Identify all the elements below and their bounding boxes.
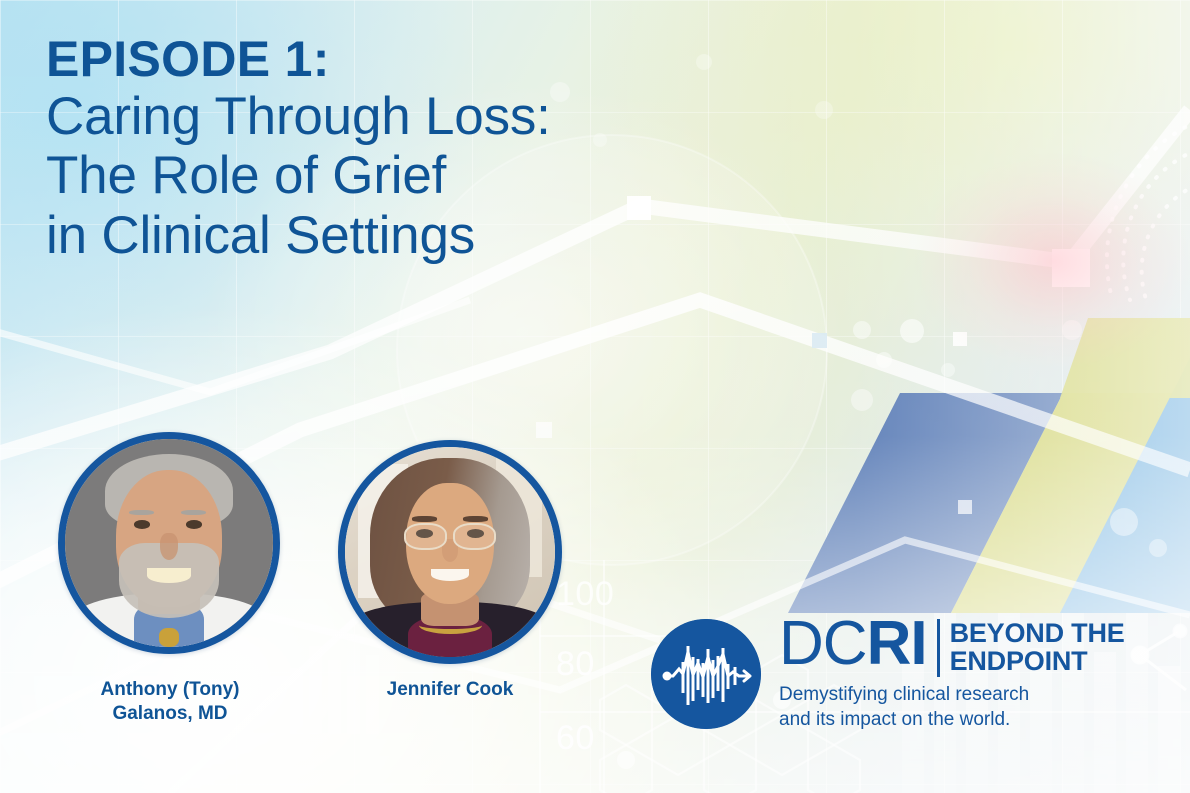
axis-tick-60: 60 <box>556 719 595 758</box>
dcri-logo-text: DCRI BEYOND THE ENDPOINT Demystifying cl… <box>779 615 1125 732</box>
episode-poster: EPISODE 1: Caring Through Loss: The Role… <box>0 0 1190 793</box>
speaker-name-galanos: Anthony (Tony) Galanos, MD <box>30 678 310 727</box>
speaker-name-line-1: Anthony (Tony) <box>30 678 310 702</box>
dcri-logo: DCRI BEYOND THE ENDPOINT Demystifying cl… <box>651 615 1125 732</box>
logo-subtitle-line-1: Demystifying clinical research <box>779 683 1125 708</box>
episode-label: EPISODE 1: <box>46 34 766 85</box>
speaker-name-cook: Jennifer Cook <box>330 678 570 702</box>
page-title-line-2: The Role of Grief <box>46 146 766 205</box>
logo-tagline-line-2: ENDPOINT <box>950 647 1125 675</box>
logo-subtitle: Demystifying clinical research and its i… <box>779 683 1125 732</box>
logo-subtitle-line-2: and its impact on the world. <box>779 708 1125 733</box>
waveform-arrow-icon <box>651 619 761 729</box>
axis-tick-100: 100 <box>556 575 614 614</box>
axis-tick-80: 80 <box>556 645 595 684</box>
logo-tagline-line-1: BEYOND THE <box>950 619 1125 647</box>
page-title-line-1: Caring Through Loss: <box>46 87 766 146</box>
logo-divider <box>937 619 940 677</box>
page-title-line-3: in Clinical Settings <box>46 206 766 265</box>
logo-tagline: BEYOND THE ENDPOINT <box>950 615 1125 676</box>
speaker-name-line-2: Galanos, MD <box>30 702 310 726</box>
dcri-wordmark: DCRI <box>779 615 927 672</box>
title-block: EPISODE 1: Caring Through Loss: The Role… <box>46 34 766 265</box>
avatar-galanos <box>58 432 280 654</box>
speaker-name-line-1: Jennifer Cook <box>330 678 570 702</box>
avatar-cook <box>338 440 562 664</box>
